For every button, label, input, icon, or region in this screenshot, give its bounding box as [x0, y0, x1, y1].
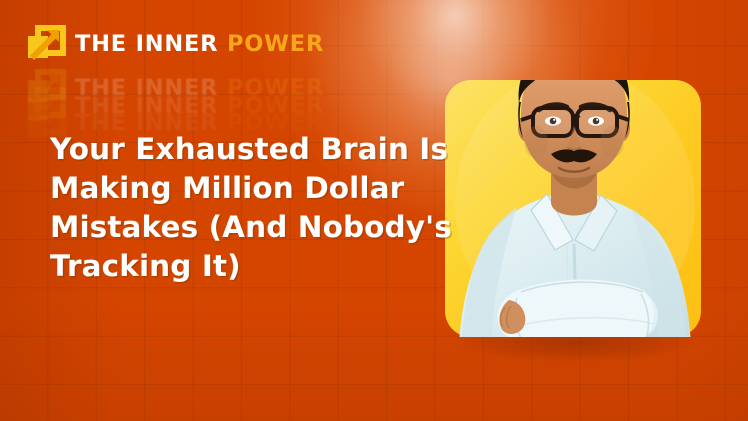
logo-word-accent: POWER [227, 31, 324, 57]
video-thumbnail-canvas: THE INNER POWER THE INNER POWER THE INNE… [0, 0, 748, 421]
brand-logo[interactable]: THE INNER POWER [26, 22, 324, 66]
headline-line-2: Making Million Dollar [50, 169, 450, 208]
headline-line-4: Tracking It) [50, 247, 450, 286]
headline-line-3: Mistakes (And Nobody's [50, 208, 450, 247]
arrow-up-right-square-icon [26, 22, 66, 66]
headline-title: Your Exhausted Brain Is Making Million D… [50, 130, 450, 286]
headline-line-1: Your Exhausted Brain Is [50, 130, 450, 169]
logo-wordmark: THE INNER POWER [75, 33, 324, 56]
portrait-photo [445, 80, 701, 337]
logo-word-primary: THE INNER [75, 31, 218, 57]
